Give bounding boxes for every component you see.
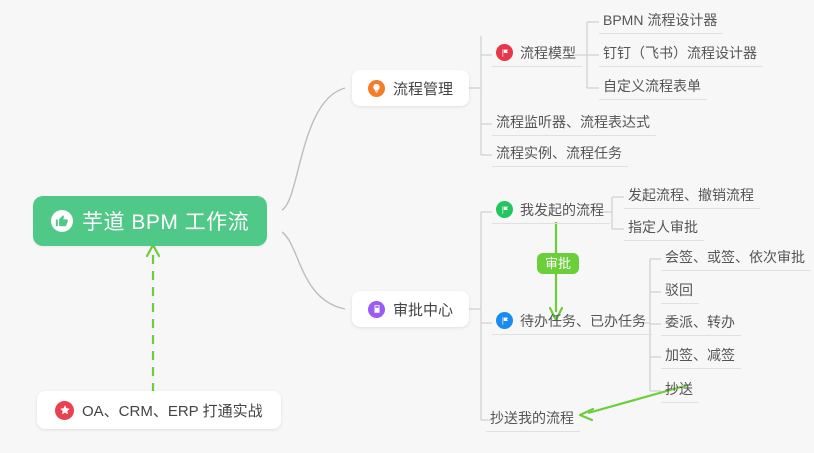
star-icon	[55, 401, 74, 420]
node-process-model[interactable]: 流程模型	[492, 43, 582, 67]
node-label-reject: 驳回	[665, 280, 693, 300]
callout-label: OA、CRM、ERP 打通实战	[82, 400, 263, 421]
node-custom-form[interactable]: 自定义流程表单	[599, 76, 707, 100]
root-label: 芋道 BPM 工作流	[82, 206, 249, 236]
node-process-instance[interactable]: 流程实例、流程任务	[492, 143, 628, 167]
root-node[interactable]: 芋道 BPM 工作流	[33, 196, 267, 246]
node-reject[interactable]: 驳回	[661, 280, 699, 304]
node-label-countersign: 会签、或签、依次审批	[665, 247, 805, 267]
branch-label-process-management: 流程管理	[393, 78, 453, 99]
clipboard-icon	[368, 301, 385, 318]
node-label-my-started-process: 我发起的流程	[520, 200, 604, 220]
dashed-arrow-callout-to-root	[147, 245, 159, 392]
thumbs-up-icon	[51, 210, 73, 232]
node-label-custom-form: 自定义流程表单	[603, 76, 701, 96]
node-dingtalk-feishu-designer[interactable]: 钉钉（飞书）流程设计器	[599, 43, 763, 67]
node-label-bpmn-designer: BPMN 流程设计器	[603, 10, 717, 30]
flag-red-icon	[496, 44, 513, 61]
node-process-listener[interactable]: 流程监听器、流程表达式	[492, 112, 656, 136]
node-label-process-model: 流程模型	[520, 43, 576, 63]
node-label-start-cancel-process: 发起流程、撤销流程	[628, 185, 754, 205]
node-start-cancel-process[interactable]: 发起流程、撤销流程	[624, 185, 760, 209]
node-label-assignee-approval: 指定人审批	[628, 217, 698, 237]
node-my-started-process[interactable]: 我发起的流程	[492, 200, 610, 224]
node-label-cc-to-me-process: 抄送我的流程	[490, 408, 574, 428]
node-label-process-listener: 流程监听器、流程表达式	[496, 112, 650, 132]
node-label-process-instance: 流程实例、流程任务	[496, 143, 622, 163]
node-add-remove-sign[interactable]: 加签、减签	[661, 345, 741, 369]
node-label-delegate-transfer: 委派、转办	[665, 312, 735, 332]
node-label-add-remove-sign: 加签、减签	[665, 345, 735, 365]
mindmap-canvas: 芋道 BPM 工作流 OA、CRM、ERP 打通实战 流程管理 流程模型 流程监…	[0, 0, 814, 453]
node-cc-to-me-process[interactable]: 抄送我的流程	[486, 408, 580, 432]
callout-card-oa-crm-erp[interactable]: OA、CRM、ERP 打通实战	[37, 391, 281, 429]
node-bpmn-designer[interactable]: BPMN 流程设计器	[599, 10, 723, 34]
node-label-todo-done-tasks: 待办任务、已办任务	[520, 311, 646, 331]
node-carbon-copy[interactable]: 抄送	[661, 379, 699, 403]
branch-node-process-management[interactable]: 流程管理	[352, 70, 469, 106]
flag-blue-icon	[496, 312, 513, 329]
approval-arrow-tag-label: 审批	[545, 257, 571, 270]
branch-label-approval-center: 审批中心	[393, 299, 453, 320]
node-label-dingtalk-feishu-designer: 钉钉（飞书）流程设计器	[603, 43, 757, 63]
node-delegate-transfer[interactable]: 委派、转办	[661, 312, 741, 336]
node-label-carbon-copy: 抄送	[665, 379, 693, 399]
bulb-icon	[368, 80, 385, 97]
node-countersign[interactable]: 会签、或签、依次审批	[661, 247, 811, 271]
node-assignee-approval[interactable]: 指定人审批	[624, 217, 704, 241]
branch-node-approval-center[interactable]: 审批中心	[352, 291, 469, 327]
approval-arrow-tag: 审批	[537, 253, 579, 274]
node-todo-done-tasks[interactable]: 待办任务、已办任务	[492, 311, 652, 335]
flag-green-icon	[496, 201, 513, 218]
